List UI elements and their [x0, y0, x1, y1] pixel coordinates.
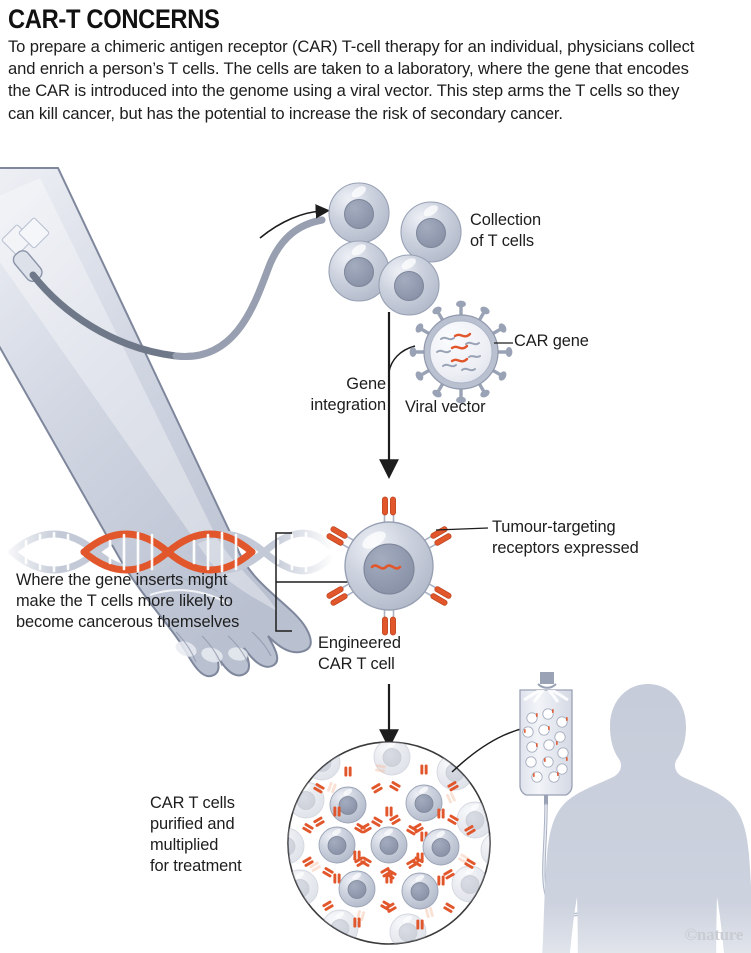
infographic-root: CAR-T CONCERNS To prepare a chimeric ant… [0, 0, 751, 953]
tcell-collection [329, 183, 461, 315]
label-car-gene: CAR gene [514, 331, 644, 352]
header: CAR-T CONCERNS To prepare a chimeric ant… [8, 4, 743, 125]
nature-credit: ©nature [685, 925, 743, 945]
label-purified-line3: multiplied [150, 835, 315, 856]
label-gene-insertion-risk: Where the gene inserts might make the T … [16, 570, 291, 633]
label-viral-vector: Viral vector [405, 397, 545, 418]
label-purified-line2: purified and [150, 814, 315, 835]
label-purified-line1: CAR T cells [150, 793, 315, 814]
label-engineered-line1: Engineered [318, 633, 448, 654]
gene-integration-arrow [389, 312, 415, 468]
intro-paragraph: To prepare a chimeric antigen receptor (… [8, 36, 708, 125]
label-tumour-targeting-receptors: Tumour-targeting receptors expressed [492, 517, 702, 559]
label-engineered-car-t-cell: Engineered CAR T cell [318, 633, 448, 675]
label-engineered-line2: CAR T cell [318, 654, 448, 675]
viral-vector [410, 301, 513, 404]
engineered-car-t-cell [326, 497, 488, 635]
catheter-tape [1, 217, 49, 255]
label-gene-integration-line2: integration [300, 395, 386, 416]
label-dna-line2: make the T cells more likely to [16, 591, 291, 612]
label-dna-line1: Where the gene inserts might [16, 570, 291, 591]
label-collection-of-t-cells: Collection of T cells [470, 210, 610, 252]
page-title: CAR-T CONCERNS [8, 4, 655, 34]
label-tumour-line1: Tumour-targeting [492, 517, 702, 538]
label-dna-line3: become cancerous themselves [16, 612, 291, 633]
label-gene-integration-line1: Gene [300, 374, 386, 395]
dish-to-bag-arrow [452, 725, 546, 772]
label-tumour-line2: receptors expressed [492, 538, 702, 559]
illustration-layer [0, 0, 751, 953]
patient-silhouette [539, 684, 751, 953]
label-collection-line2: of T cells [470, 231, 610, 252]
label-car-t-cells-purified: CAR T cells purified and multiplied for … [150, 793, 315, 877]
label-collection-line1: Collection [470, 210, 610, 231]
label-purified-line4: for treatment [150, 856, 315, 877]
label-gene-integration: Gene integration [300, 374, 386, 416]
iv-bag [520, 672, 610, 915]
